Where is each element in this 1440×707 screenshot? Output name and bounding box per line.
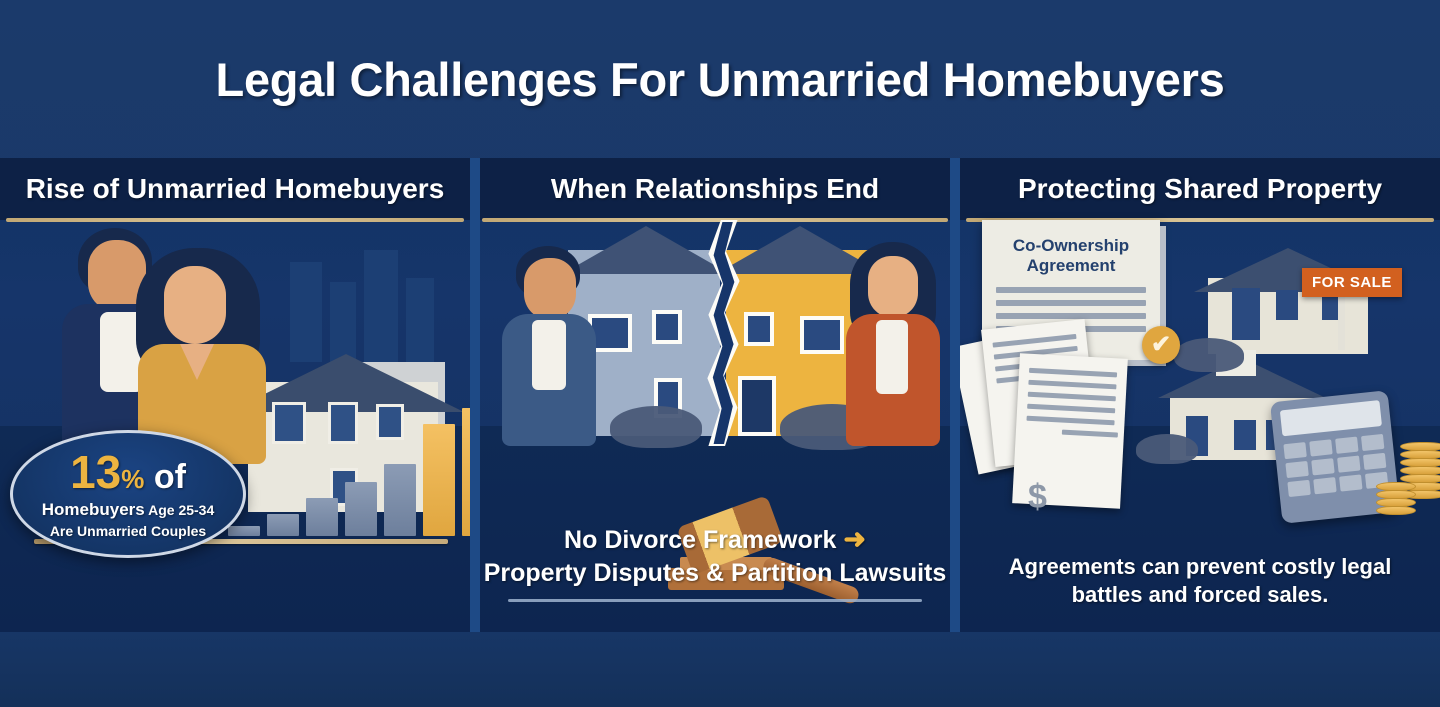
bar-1 bbox=[228, 526, 260, 536]
paper-line bbox=[1028, 392, 1116, 402]
bar-2 bbox=[267, 514, 299, 536]
document-line bbox=[996, 313, 1146, 319]
paper-line bbox=[1027, 404, 1115, 414]
shirt bbox=[876, 320, 908, 394]
bar-3 bbox=[306, 498, 338, 536]
house-window bbox=[652, 310, 682, 344]
stat-percent: % bbox=[121, 464, 144, 494]
caption-line-2: Property Disputes & Partition Lawsuits bbox=[480, 559, 950, 588]
head bbox=[524, 258, 576, 320]
paper-line bbox=[992, 334, 1076, 348]
paper-line bbox=[1028, 380, 1116, 390]
stat-line-3: Are Unmarried Couples bbox=[50, 523, 206, 539]
calculator-key bbox=[1285, 461, 1308, 478]
caption-line-2: battles and forced sales. bbox=[960, 581, 1440, 610]
calculator-key bbox=[1313, 477, 1336, 494]
arrow-right-icon: ➜ bbox=[843, 524, 866, 554]
title-band: Legal Challenges For Unmarried Homebuyer… bbox=[0, 0, 1440, 158]
calculator-screen bbox=[1280, 400, 1382, 436]
calculator-key bbox=[1309, 439, 1332, 456]
head bbox=[868, 256, 918, 318]
caption-line-1: Agreements can prevent costly legal bbox=[960, 553, 1440, 582]
bar-5 bbox=[384, 464, 416, 536]
document-title: Co-Ownership Agreement bbox=[996, 236, 1146, 275]
house-window bbox=[744, 312, 774, 346]
stat-badge: 13% of Homebuyers Age 25-34 Are Unmarrie… bbox=[10, 430, 246, 558]
bush bbox=[1174, 338, 1244, 372]
stat-number: 13 bbox=[70, 446, 121, 498]
caption-line-1-text: No Divorce Framework bbox=[564, 526, 836, 554]
calculator-key bbox=[1337, 455, 1360, 472]
calculator-key bbox=[1287, 480, 1310, 497]
calculator-key bbox=[1283, 442, 1306, 459]
bar-4 bbox=[345, 482, 377, 536]
panel-2-illustration: No Divorce Framework ➜ Property Disputes… bbox=[480, 220, 950, 632]
page-title: Legal Challenges For Unmarried Homebuyer… bbox=[216, 52, 1225, 107]
head bbox=[164, 266, 226, 344]
panel-3-caption: Agreements can prevent costly legal batt… bbox=[960, 553, 1440, 610]
person-man bbox=[502, 246, 598, 446]
stat-line-2-strong: Homebuyers bbox=[42, 500, 145, 519]
stat-line-2-rest: Age 25-34 bbox=[145, 502, 215, 518]
panel-rise-of-unmarried-homebuyers: Rise of Unmarried Homebuyers bbox=[0, 158, 470, 632]
panel-2-caption-rule bbox=[508, 599, 922, 602]
paper-line bbox=[1062, 430, 1118, 438]
document-title-line-2: Agreement bbox=[996, 256, 1146, 276]
panel-protecting-shared-property: Protecting Shared Property FOR SALE bbox=[960, 158, 1440, 632]
stat-of: of bbox=[144, 458, 186, 496]
coin bbox=[1376, 506, 1416, 515]
approved-check-seal-icon: ✔ bbox=[1142, 326, 1180, 364]
bar-6 bbox=[423, 424, 455, 536]
panel-2-header: When Relationships End bbox=[480, 158, 950, 220]
calculator-key bbox=[1335, 437, 1358, 454]
panel-3-illustration: FOR SALE Co-Ownership Agreement bbox=[960, 220, 1440, 632]
house-window bbox=[1232, 288, 1260, 340]
paper-line bbox=[1029, 368, 1117, 378]
document-line bbox=[996, 300, 1146, 306]
caption-line-1: No Divorce Framework ➜ bbox=[480, 524, 950, 555]
stat-line-2: Homebuyers Age 25-34 bbox=[42, 500, 215, 520]
house-door bbox=[738, 376, 776, 436]
calculator-key bbox=[1311, 458, 1334, 475]
for-sale-sign: FOR SALE bbox=[1302, 268, 1402, 297]
panel-1-header-text: Rise of Unmarried Homebuyers bbox=[26, 173, 445, 205]
panel-1-illustration: 13% of Homebuyers Age 25-34 Are Unmarrie… bbox=[0, 220, 470, 632]
panel-2-header-text: When Relationships End bbox=[551, 173, 879, 205]
document-title-line-1: Co-Ownership bbox=[996, 236, 1146, 256]
bush bbox=[610, 406, 702, 448]
panel-1-header: Rise of Unmarried Homebuyers bbox=[0, 158, 470, 220]
panel-3-header-text: Protecting Shared Property bbox=[1018, 173, 1382, 205]
bush bbox=[1136, 434, 1198, 464]
person-woman bbox=[842, 242, 942, 446]
house-rear bbox=[1198, 242, 1376, 354]
for-sale-post bbox=[1338, 292, 1345, 350]
panel-when-relationships-end: When Relationships End bbox=[470, 158, 960, 632]
panel-2-caption: No Divorce Framework ➜ Property Disputes… bbox=[480, 524, 950, 588]
bar-7 bbox=[462, 408, 470, 536]
bottom-band bbox=[0, 632, 1440, 707]
document-line bbox=[996, 287, 1146, 293]
house-window bbox=[1276, 290, 1298, 320]
panel-grid: Rise of Unmarried Homebuyers bbox=[0, 158, 1440, 632]
calculator-key bbox=[1339, 474, 1362, 491]
calculator-keypad bbox=[1283, 434, 1388, 497]
paper-line bbox=[1026, 416, 1114, 426]
dollar-sign-icon: $ bbox=[1028, 478, 1047, 517]
coin-stack-short bbox=[1376, 482, 1416, 514]
coin-stacks bbox=[1376, 442, 1440, 518]
house-window bbox=[1234, 420, 1256, 450]
shirt bbox=[532, 320, 566, 390]
stat-headline: 13% of bbox=[70, 449, 186, 495]
house-window bbox=[800, 316, 844, 354]
panel-3-header: Protecting Shared Property bbox=[960, 158, 1440, 220]
